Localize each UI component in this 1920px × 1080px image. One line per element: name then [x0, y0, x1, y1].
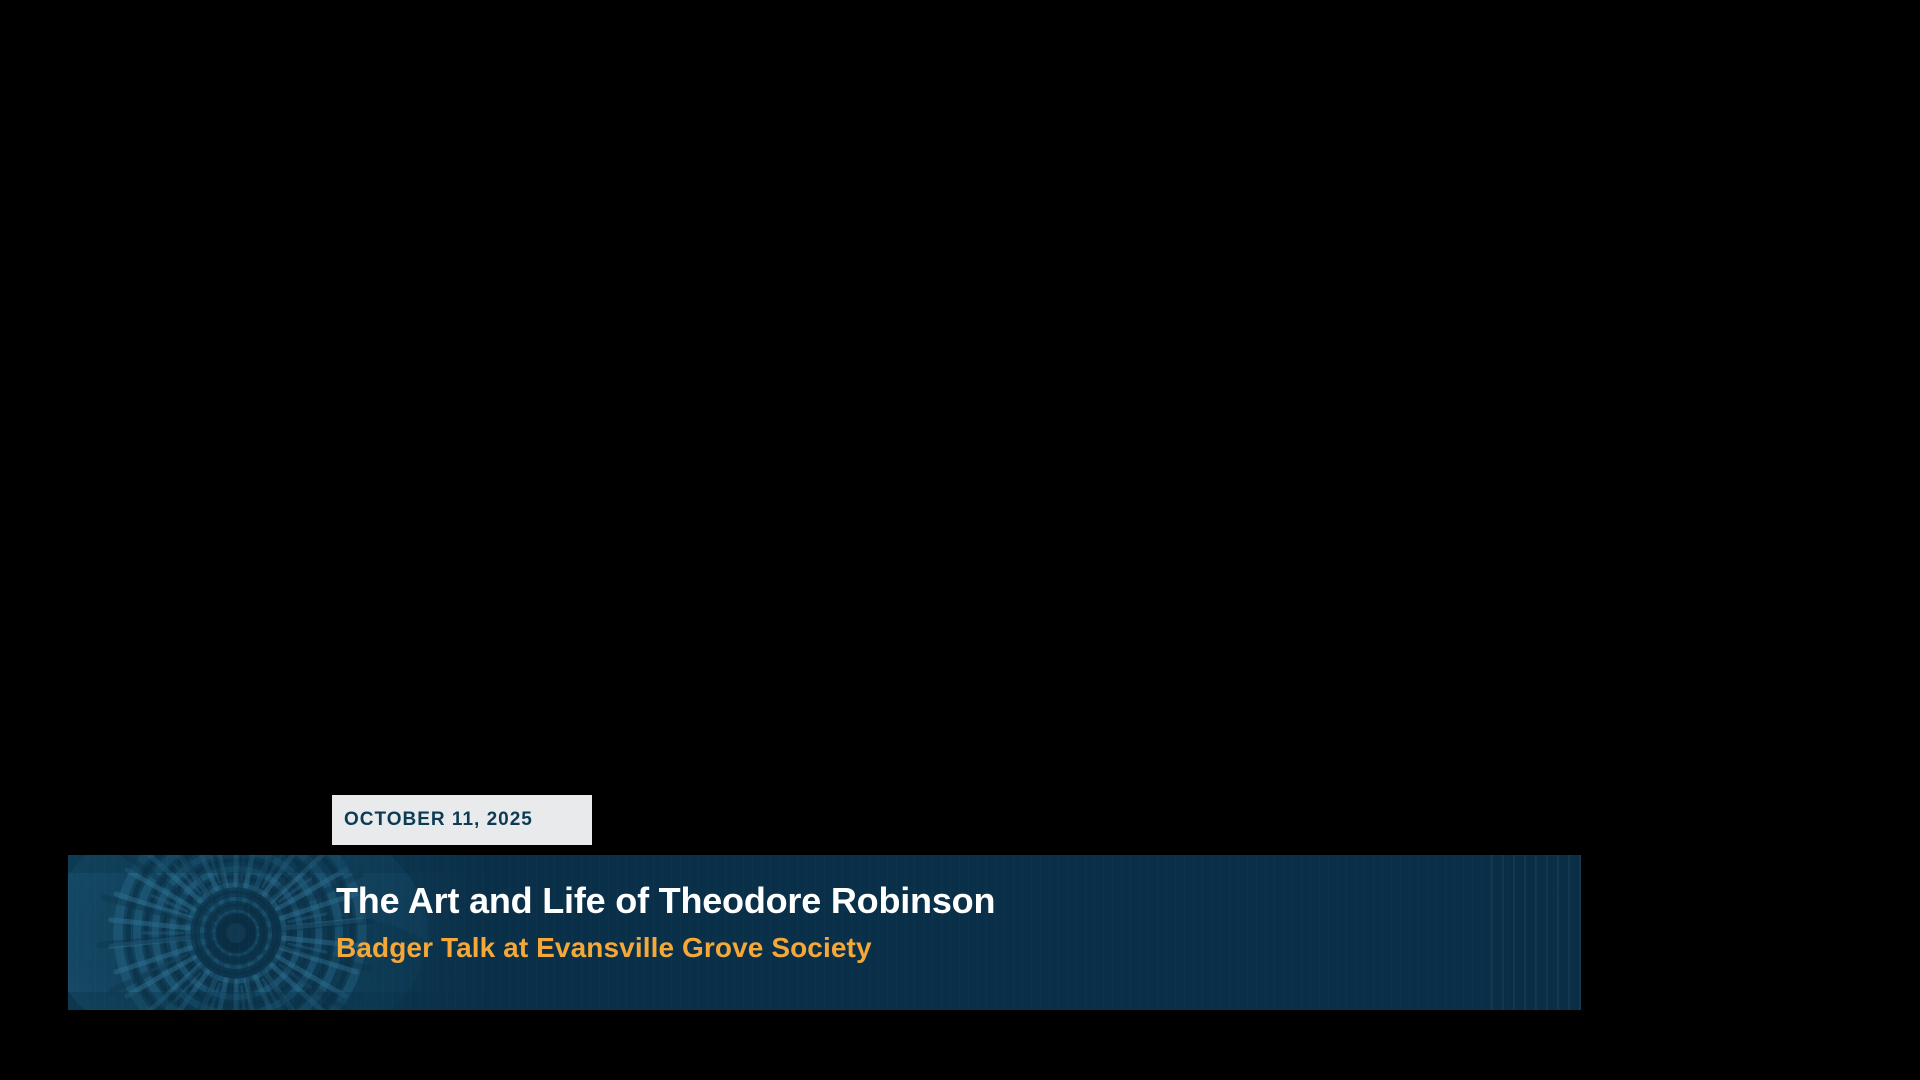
page-canvas: OCTOBER 11, 2025	[0, 0, 1920, 1080]
banner-text-block: The Art and Life of Theodore Robinson Ba…	[336, 881, 1436, 965]
event-date-text: OCTOBER 11, 2025	[344, 809, 533, 831]
event-title: The Art and Life of Theodore Robinson	[336, 881, 1436, 921]
event-subtitle: Badger Talk at Evansville Grove Society	[336, 931, 1436, 965]
event-banner[interactable]: UPLACE The Art and Life of Theodore Robi…	[68, 855, 1581, 1010]
event-date-badge: OCTOBER 11, 2025	[332, 795, 592, 845]
banner-right-stripe-overlay	[1491, 855, 1581, 1010]
